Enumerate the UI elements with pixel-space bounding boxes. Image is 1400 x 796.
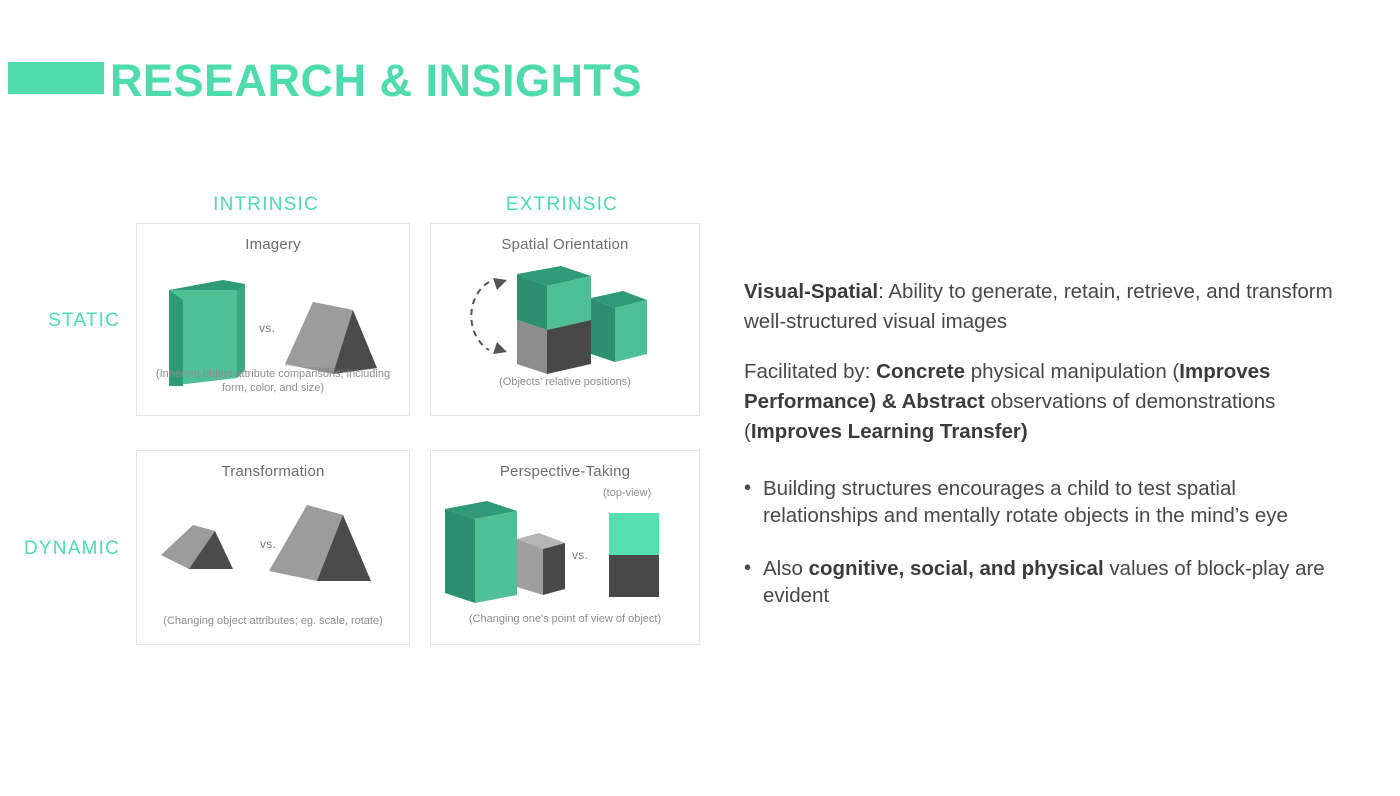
- matrix-cell-spatial-orientation: Spatial Orientation: [430, 223, 700, 416]
- cell-title: Spatial Orientation: [431, 236, 699, 253]
- row-header-static: STATIC: [0, 310, 120, 332]
- body-text: Facilitated by:: [744, 360, 876, 383]
- body-text: Building structures encourages a child t…: [763, 477, 1288, 527]
- rotation-arrow-icon: [471, 282, 489, 350]
- cell-caption: (Objects' relative positions): [437, 375, 693, 389]
- vs-label: vs.: [260, 537, 276, 551]
- perspective-taking-illustration: [431, 485, 699, 615]
- cell-title: Imagery: [137, 236, 409, 253]
- blocks-vs-topview-svg: [431, 485, 701, 615]
- paragraph-facilitated-by: Facilitated by: Concrete physical manipu…: [744, 357, 1334, 447]
- column-header-extrinsic: EXTRINSIC: [422, 194, 702, 216]
- cell-title: Transformation: [137, 463, 409, 480]
- bold-text: Concrete: [876, 360, 965, 383]
- bullet-marker-icon: •: [744, 555, 751, 582]
- body-text: physical manipulation (: [965, 360, 1179, 383]
- bold-text: cognitive, social, and physical: [809, 557, 1104, 580]
- insights-bullet-list: •Building structures encourages a child …: [744, 475, 1334, 609]
- list-item: •Also cognitive, social, and physical va…: [744, 555, 1334, 609]
- body-text: Also: [763, 557, 809, 580]
- bullet-marker-icon: •: [744, 475, 751, 502]
- cell-caption: (Inherent object attribute comparisons, …: [143, 367, 403, 395]
- bold-text: Visual-Spatial: [744, 280, 878, 303]
- insights-text-panel: Visual-Spatial: Ability to generate, ret…: [744, 256, 1334, 635]
- cell-caption: (Changing object attributes; eg. scale, …: [143, 614, 403, 628]
- row-header-dynamic: DYNAMIC: [0, 538, 120, 560]
- vs-label: vs.: [259, 321, 275, 335]
- spatial-skills-matrix: INTRINSIC EXTRINSIC STATIC DYNAMIC Image…: [0, 0, 720, 700]
- cell-caption: (Changing one's point of view of object): [437, 612, 693, 626]
- spatial-orientation-illustration: [431, 258, 699, 388]
- bold-text: Improves Learning Transfer): [751, 420, 1028, 443]
- cell-title: Perspective-Taking: [431, 463, 699, 480]
- list-item: •Building structures encourages a child …: [744, 475, 1334, 529]
- matrix-cell-transformation: Transformation vs. (Changing object attr…: [136, 450, 410, 645]
- vs-label: vs.: [572, 548, 588, 562]
- matrix-cell-imagery: Imagery vs. (Inherent object attribute c…: [136, 223, 410, 416]
- paragraph-visual-spatial: Visual-Spatial: Ability to generate, ret…: [744, 277, 1334, 337]
- column-header-intrinsic: INTRINSIC: [126, 194, 406, 216]
- stacked-cubes-svg: [431, 258, 701, 388]
- matrix-cell-perspective-taking: Perspective-Taking (top-view) vs. (Chang…: [430, 450, 700, 645]
